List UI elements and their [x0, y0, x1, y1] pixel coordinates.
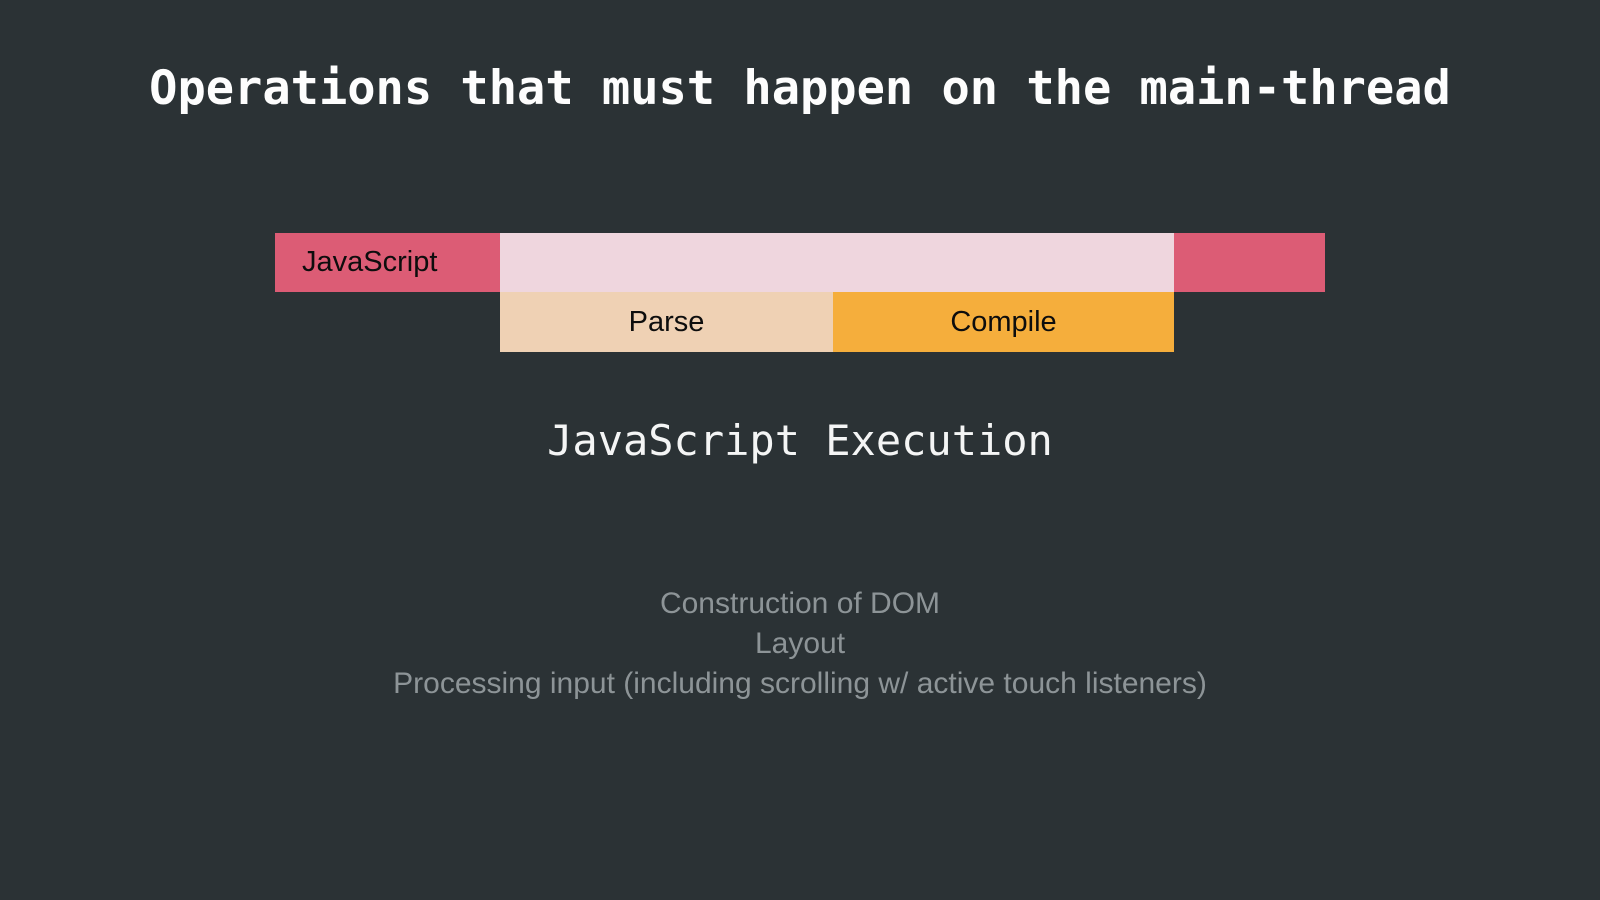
javascript-track-label: JavaScript — [302, 233, 437, 292]
note-line-layout: Layout — [0, 624, 1600, 664]
note-line-construction-of-dom: Construction of DOM — [0, 584, 1600, 624]
note-line-processing-input: Processing input (including scrolling w/… — [0, 664, 1600, 704]
main-thread-operations-notes: Construction of DOM Layout Processing in… — [0, 584, 1600, 704]
page-title: Operations that must happen on the main-… — [0, 57, 1600, 121]
javascript-phase-track: Parse Compile — [500, 292, 1174, 352]
diagram-caption: JavaScript Execution — [0, 412, 1600, 470]
main-thread-timeline: JavaScript Parse Compile — [275, 233, 1325, 352]
phase-segment-compile: Compile — [833, 292, 1174, 352]
phase-segment-parse: Parse — [500, 292, 833, 352]
javascript-track: JavaScript — [275, 233, 1325, 292]
slide-canvas: Operations that must happen on the main-… — [0, 0, 1600, 900]
javascript-execution-highlight — [500, 233, 1174, 292]
